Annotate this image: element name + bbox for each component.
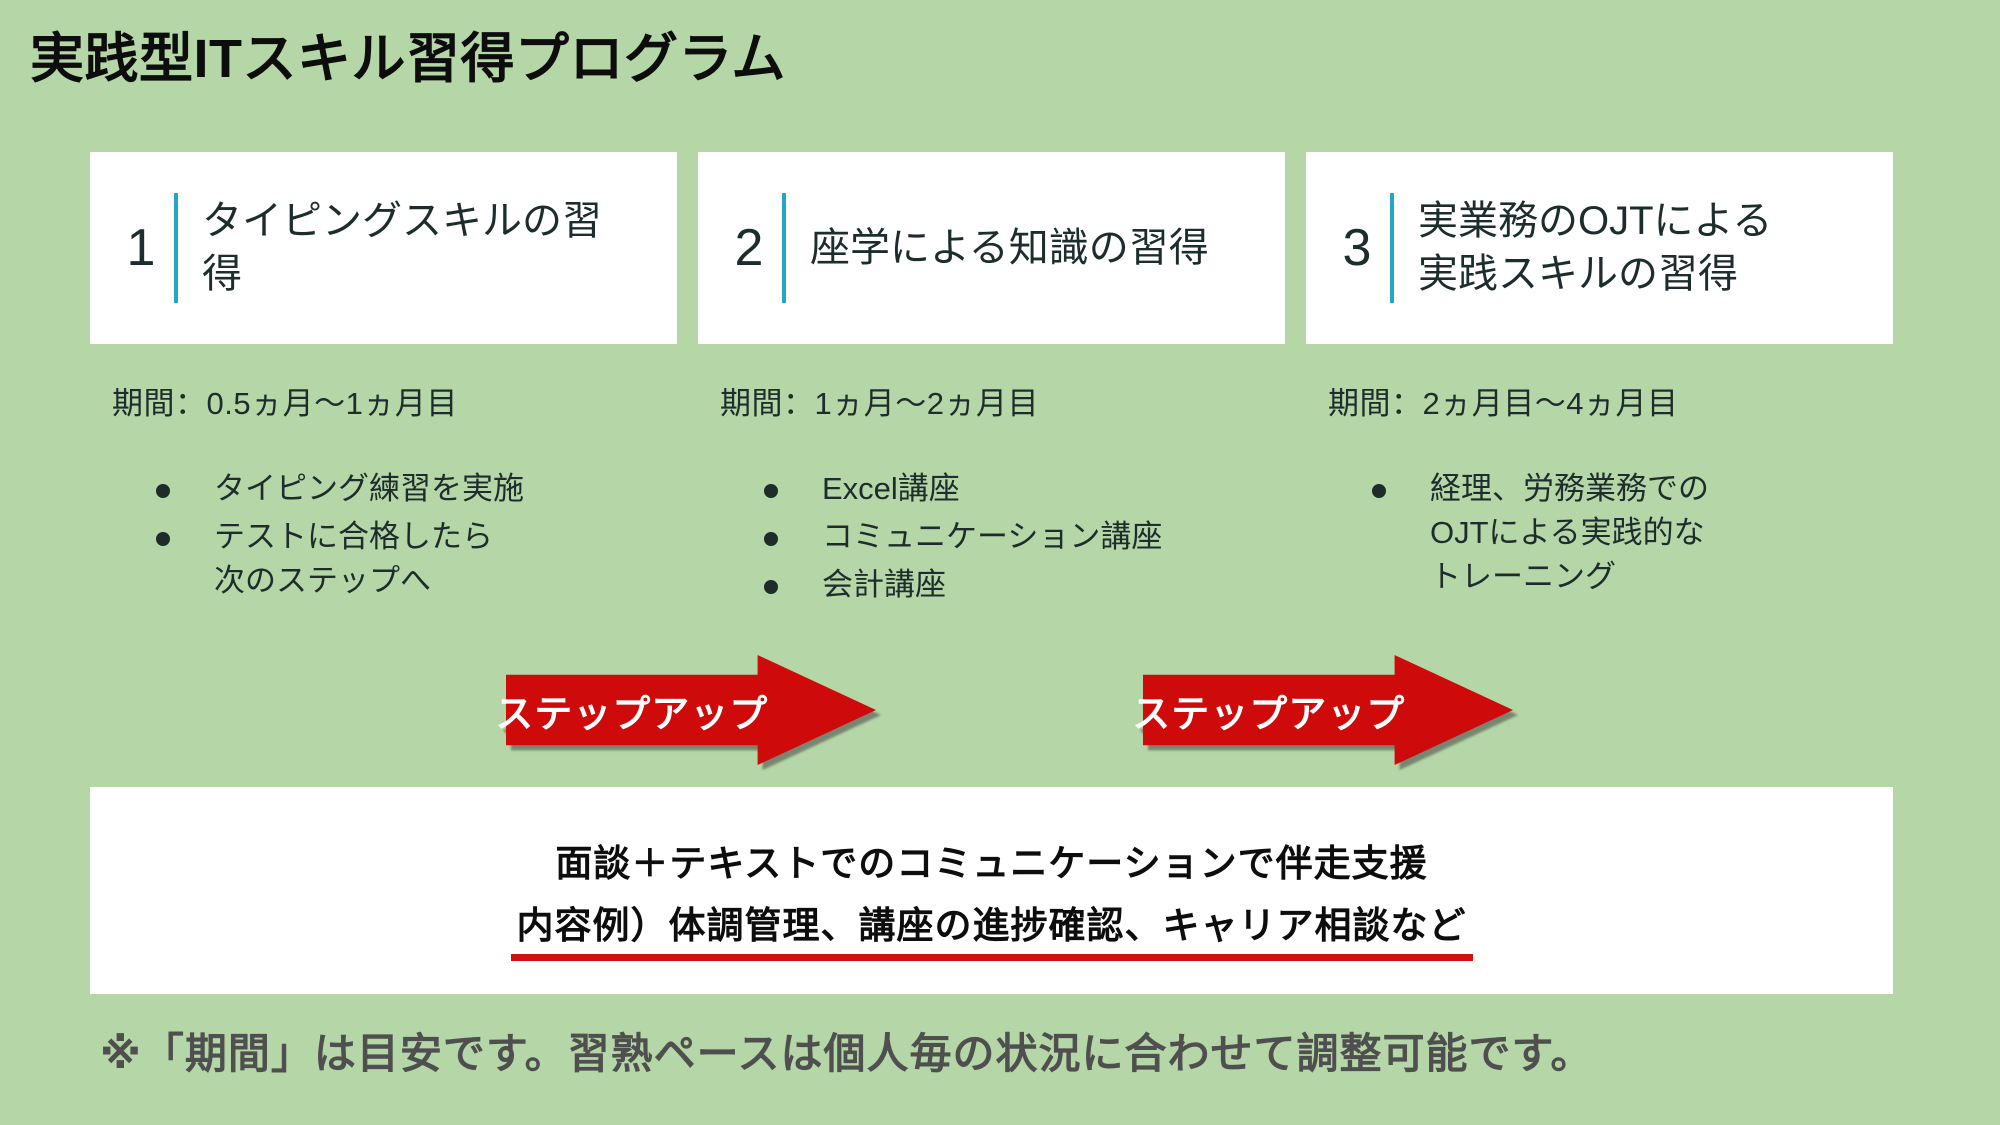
step-card-2-header: 2 座学による知識の習得 — [698, 152, 1285, 344]
page-title: 実践型ITスキル習得プログラム — [30, 14, 786, 93]
support-panel-line-2: 内容例）体調管理、講座の進捗確認、キャリア相談など — [517, 895, 1467, 949]
step-cards-container: 1 タイピングスキルの習 得 期間：0.5ヵ月〜1ヵ月目 タイピング練習を実施 … — [90, 152, 1893, 782]
step-card-2-number: 2 — [720, 222, 778, 274]
step-up-arrow-2: ステップアップ — [1143, 655, 1513, 765]
list-item: Excel講座 — [758, 467, 1265, 511]
step-card-1-header: 1 タイピングスキルの習 得 — [90, 152, 677, 344]
support-panel: 面談＋テキストでのコミュニケーションで伴走支援 内容例）体調管理、講座の進捗確認… — [90, 787, 1893, 994]
step-card-3-header: 3 実業務のOJTによる 実践スキルの習得 — [1306, 152, 1893, 344]
list-item: 会計講座 — [758, 563, 1265, 607]
step-card-3-title: 実業務のOJTによる 実践スキルの習得 — [1418, 195, 1786, 301]
support-panel-line-2-wrapper: 内容例）体調管理、講座の進捗確認、キャリア相談など — [517, 895, 1467, 949]
step-card-1-bullet-list: タイピング練習を実施 テストに合格したら 次のステップへ — [112, 467, 657, 603]
step-card-1-title: タイピングスキルの習 得 — [202, 195, 616, 301]
step-card-2-title: 座学による知識の習得 — [810, 222, 1223, 275]
list-item: コミュニケーション講座 — [758, 515, 1265, 559]
vertical-divider-icon — [782, 193, 786, 303]
red-underline — [511, 954, 1473, 961]
step-card-3-bullet-list: 経理、労務業務での OJTによる実践的な トレーニング — [1328, 467, 1873, 599]
step-card-3-number: 3 — [1328, 222, 1386, 274]
support-panel-line-1: 面談＋テキストでのコミュニケーションで伴走支援 — [555, 833, 1427, 887]
step-card-1-period: 期間：0.5ヵ月〜1ヵ月目 — [112, 378, 657, 423]
vertical-divider-icon — [174, 193, 178, 303]
step-up-arrow-2-label: ステップアップ — [1143, 655, 1395, 765]
step-card-3-period: 期間：2ヵ月目〜4ヵ月目 — [1328, 378, 1873, 423]
step-up-arrow-1-label: ステップアップ — [506, 655, 758, 765]
vertical-divider-icon — [1390, 193, 1394, 303]
footer-note: ※「期間」は目安です。習熟ペースは個人毎の状況に合わせて調整可能です。 — [100, 1020, 1593, 1081]
list-item: テストに合格したら 次のステップへ — [150, 515, 657, 603]
step-card-1-number: 1 — [112, 222, 170, 274]
step-up-arrow-1: ステップアップ — [506, 655, 876, 765]
list-item: タイピング練習を実施 — [150, 467, 657, 511]
step-card-2-period: 期間：1ヵ月〜2ヵ月目 — [720, 378, 1265, 423]
list-item: 経理、労務業務での OJTによる実践的な トレーニング — [1366, 467, 1873, 599]
step-card-2-bullet-list: Excel講座 コミュニケーション講座 会計講座 — [720, 467, 1265, 607]
